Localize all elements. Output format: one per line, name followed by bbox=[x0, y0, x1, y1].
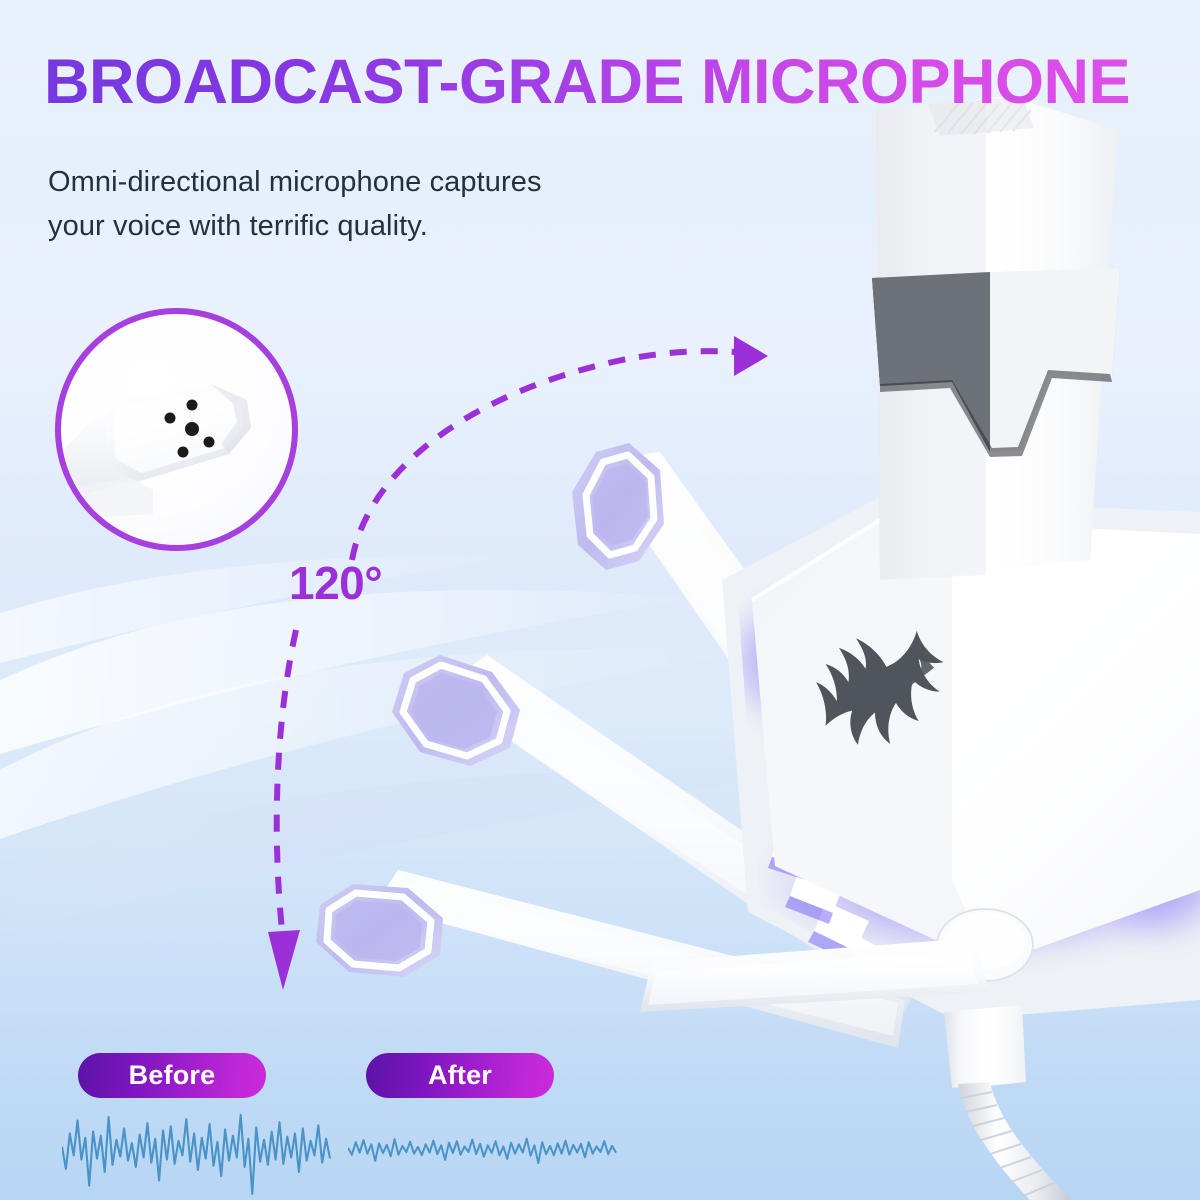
mic-boom-position-upper bbox=[572, 443, 985, 950]
subtitle-line-1: Omni-directional microphone captures bbox=[48, 160, 542, 204]
subtitle: Omni-directional microphone captures you… bbox=[48, 160, 542, 248]
headband-post bbox=[872, 96, 1120, 580]
led-slots-lower bbox=[772, 808, 1200, 985]
mic-boom-attached bbox=[640, 938, 990, 1012]
mic-boom-position-lower bbox=[316, 870, 905, 1048]
badge-before: Before bbox=[78, 1053, 266, 1098]
microphone-closeup-inset bbox=[55, 308, 298, 551]
waveform-after bbox=[348, 1118, 618, 1188]
waveform-before bbox=[62, 1106, 332, 1200]
mic-tip-illustration bbox=[61, 314, 292, 545]
headset-cable bbox=[944, 1005, 1072, 1200]
mic-boom-pivot bbox=[937, 909, 1033, 981]
badge-after: After bbox=[366, 1053, 554, 1098]
brand-logo-emblem bbox=[816, 631, 943, 745]
page-title: BROADCAST-GRADE MICROPHONE bbox=[44, 46, 1130, 118]
mic-boom-position-middle bbox=[392, 655, 930, 1012]
arc-arrow-bottom bbox=[268, 930, 300, 990]
headband-metal-accent bbox=[872, 268, 1120, 457]
inset-photo bbox=[61, 314, 292, 545]
headset-ear-cup bbox=[720, 498, 1200, 1020]
rotation-angle-label: 120° bbox=[289, 556, 382, 610]
subtitle-line-2: your voice with terrific quality. bbox=[48, 204, 542, 248]
led-slots-upper bbox=[775, 561, 1200, 668]
arc-arrow-top bbox=[734, 336, 768, 376]
